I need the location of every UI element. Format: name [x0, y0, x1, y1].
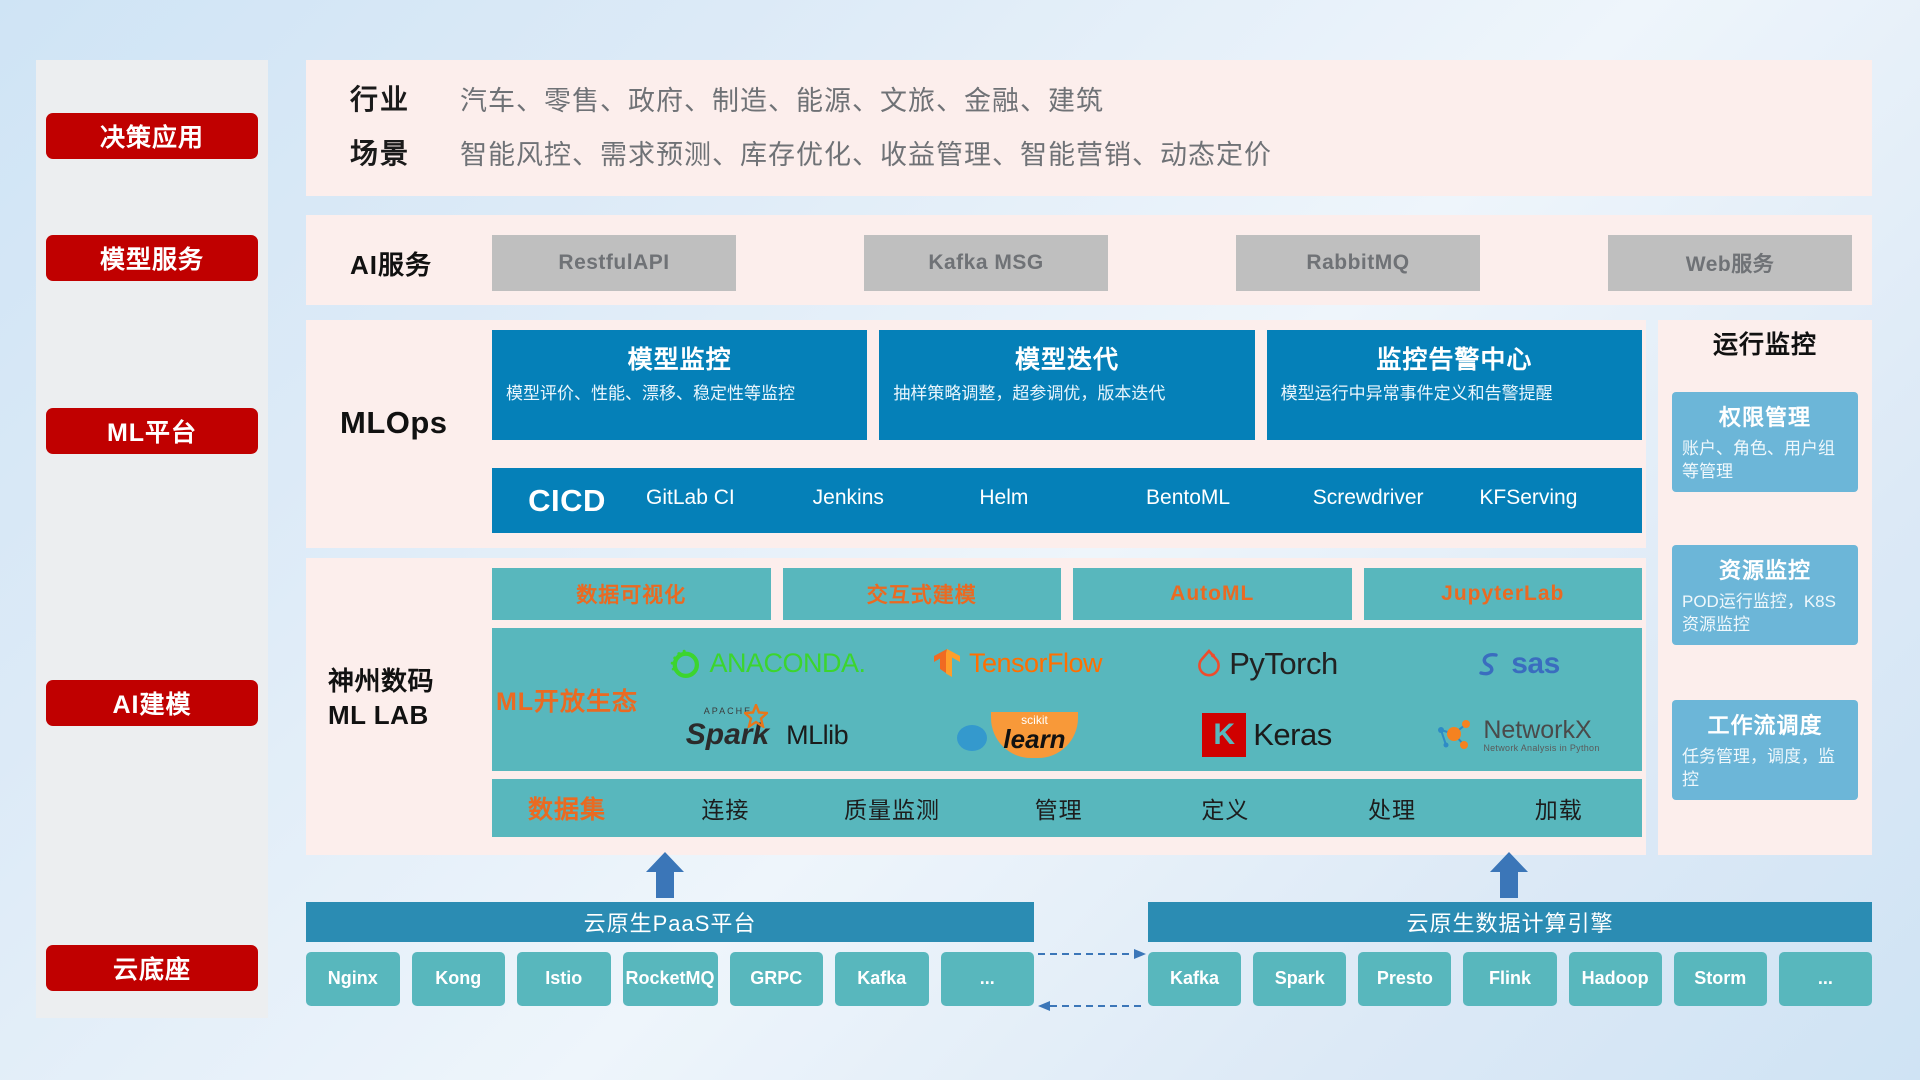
paas-component[interactable]: Kong [412, 952, 506, 1006]
pytorch-logo: PyTorch [1196, 646, 1337, 682]
stage-rail [36, 60, 268, 1018]
keras-k-icon: K [1202, 713, 1246, 757]
paas-component[interactable]: Nginx [306, 952, 400, 1006]
ai-service-chip[interactable]: Web服务 [1608, 235, 1852, 291]
ai-service-chip-list: RestfulAPI Kafka MSG RabbitMQ Web服务 [492, 235, 1852, 291]
mlops-card-list: 模型监控 模型评价、性能、漂移、稳定性等监控 模型迭代 抽样策略调整，超参调优，… [492, 330, 1642, 440]
monitoring-card-desc: 任务管理，调度，监控 [1682, 746, 1848, 792]
keras-logo-text: Keras [1253, 717, 1331, 753]
cicd-item[interactable]: BentoML [1142, 486, 1309, 509]
modeling-tool-chip[interactable]: 数据可视化 [492, 568, 771, 620]
engine-component[interactable]: Flink [1463, 952, 1556, 1006]
mlops-card-title: 模型监控 [506, 340, 853, 376]
sas-logo-text: sas [1511, 647, 1560, 681]
dashed-arrow-left-icon [1038, 1000, 1146, 1012]
keras-logo: K Keras [1202, 713, 1331, 757]
networkx-tagline: Network Analysis in Python [1483, 744, 1599, 753]
monitoring-card-desc: POD运行监控，K8S资源监控 [1682, 591, 1848, 637]
mllib-logo-text: MLlib [786, 720, 848, 751]
stage-label: 决策应用 [100, 118, 204, 154]
up-arrow-paas-icon [642, 852, 688, 898]
dashed-arrow-right-icon [1038, 948, 1146, 960]
ai-service-chip[interactable]: RabbitMQ [1236, 235, 1480, 291]
dataset-bar: 数据集 连接 质量监测 管理 定义 处理 加载 [492, 779, 1642, 837]
spark-mllib-logo: APACHE Spark MLlib [686, 718, 848, 752]
monitoring-card[interactable]: 工作流调度 任务管理，调度，监控 [1672, 700, 1858, 800]
mlops-card-title: 模型迭代 [893, 340, 1240, 376]
ai-service-chip[interactable]: RestfulAPI [492, 235, 736, 291]
anaconda-logo: ANACONDA. [668, 647, 865, 681]
tensorflow-logo-text: TensorFlow [969, 648, 1102, 679]
stage-chip-ai-modeling[interactable]: AI建模 [46, 680, 258, 726]
cicd-item[interactable]: Screwdriver [1309, 486, 1476, 509]
mlops-card-title: 监控告警中心 [1281, 340, 1628, 376]
dataset-item[interactable]: 定义 [1142, 791, 1309, 825]
sas-glyph [1474, 649, 1504, 679]
mlops-card-desc: 模型运行中异常事件定义和告警提醒 [1281, 383, 1628, 405]
networkx-glyph [1434, 717, 1476, 753]
ai-service-chip[interactable]: Kafka MSG [864, 235, 1108, 291]
stage-chip-cloud-base[interactable]: 云底座 [46, 945, 258, 991]
cicd-item[interactable]: KFServing [1475, 486, 1642, 509]
paas-component-list: Nginx Kong Istio RocketMQ GRPC Kafka ... [306, 952, 1034, 1006]
paas-component[interactable]: Istio [517, 952, 611, 1006]
engine-component[interactable]: Hadoop [1569, 952, 1662, 1006]
ml-lab-label-line2: ML LAB [328, 699, 488, 733]
paas-component[interactable]: GRPC [730, 952, 824, 1006]
industry-row: 行业 汽车、零售、政府、制造、能源、文旅、金融、建筑 [350, 78, 1104, 118]
stage-label: ML平台 [107, 413, 197, 449]
modeling-tool-list: 数据可视化 交互式建模 AutoML JupyterLab [492, 568, 1642, 620]
cicd-item[interactable]: Jenkins [809, 486, 976, 509]
pytorch-glyph [1196, 648, 1222, 680]
modeling-tool-chip[interactable]: JupyterLab [1364, 568, 1643, 620]
industry-label: 行业 [350, 78, 460, 118]
dataset-item[interactable]: 管理 [975, 791, 1142, 825]
stage-chip-model-service[interactable]: 模型服务 [46, 235, 258, 281]
engine-component-list: Kafka Spark Presto Flink Hadoop Storm ..… [1148, 952, 1872, 1006]
industry-value: 汽车、零售、政府、制造、能源、文旅、金融、建筑 [460, 79, 1104, 118]
engine-component[interactable]: Presto [1358, 952, 1451, 1006]
stage-chip-ml-platform[interactable]: ML平台 [46, 408, 258, 454]
networkx-logo: NetworkX Network Analysis in Python [1434, 717, 1599, 753]
dataset-title: 数据集 [492, 790, 642, 826]
ml-lab-label: 神州数码 ML LAB [328, 665, 488, 733]
cicd-title: CICD [492, 483, 642, 519]
dataset-item[interactable]: 连接 [642, 791, 809, 825]
engine-component-more[interactable]: ... [1779, 952, 1872, 1006]
anaconda-glyph [668, 647, 702, 681]
dataset-item[interactable]: 处理 [1309, 791, 1476, 825]
mlops-card[interactable]: 模型迭代 抽样策略调整，超参调优，版本迭代 [879, 330, 1254, 440]
engine-component[interactable]: Storm [1674, 952, 1767, 1006]
ml-ecosystem-box: ML开放生态 ANACONDA. TensorFlow [492, 628, 1642, 771]
paas-title: 云原生PaaS平台 [584, 906, 757, 938]
stage-label: AI建模 [112, 685, 191, 721]
cicd-item[interactable]: GitLab CI [642, 486, 809, 509]
mlops-label: MLOps [340, 405, 480, 441]
paas-component[interactable]: RocketMQ [623, 952, 718, 1006]
scenario-row: 场景 智能风控、需求预测、库存优化、收益管理、智能营销、动态定价 [350, 132, 1272, 172]
architecture-diagram: 决策应用 模型服务 ML平台 AI建模 云底座 行业 汽车、零售、政府、制造、能… [0, 0, 1920, 1080]
ml-lab-label-line1: 神州数码 [328, 665, 488, 699]
monitoring-card[interactable]: 资源监控 POD运行监控，K8S资源监控 [1672, 545, 1858, 645]
scenario-label: 场景 [350, 132, 460, 172]
monitoring-title: 运行监控 [1658, 325, 1872, 361]
modeling-tool-chip[interactable]: 交互式建模 [783, 568, 1062, 620]
cicd-item[interactable]: Helm [975, 486, 1142, 509]
engine-component[interactable]: Spark [1253, 952, 1346, 1006]
paas-bar: 云原生PaaS平台 [306, 902, 1034, 942]
stage-label: 模型服务 [100, 240, 204, 276]
sas-logo: sas [1474, 647, 1560, 681]
dataset-item[interactable]: 加载 [1475, 791, 1642, 825]
up-arrow-engine-icon [1486, 852, 1532, 898]
monitoring-card-desc: 账户、角色、用户组等管理 [1682, 438, 1848, 484]
mlops-card-desc: 模型评价、性能、漂移、稳定性等监控 [506, 383, 853, 405]
anaconda-logo-text: ANACONDA. [709, 648, 865, 679]
dataset-item[interactable]: 质量监测 [809, 791, 976, 825]
engine-component[interactable]: Kafka [1148, 952, 1241, 1006]
engine-title: 云原生数据计算引擎 [1406, 906, 1613, 938]
monitoring-card-title: 工作流调度 [1682, 708, 1848, 740]
spark-star-icon [744, 704, 768, 728]
paas-component[interactable]: Kafka [835, 952, 929, 1006]
engine-bar: 云原生数据计算引擎 [1148, 902, 1872, 942]
mlops-card[interactable]: 监控告警中心 模型运行中异常事件定义和告警提醒 [1267, 330, 1642, 440]
stage-chip-decision-app[interactable]: 决策应用 [46, 113, 258, 159]
paas-component-more[interactable]: ... [941, 952, 1035, 1006]
tensorflow-glyph [932, 647, 962, 681]
monitoring-card-title: 权限管理 [1682, 400, 1848, 432]
scenario-value: 智能风控、需求预测、库存优化、收益管理、智能营销、动态定价 [460, 133, 1272, 172]
scikit-learn-logo: scikit learn [956, 712, 1077, 758]
ml-ecosystem-logo-grid: ANACONDA. TensorFlow PyTorch [642, 628, 1642, 771]
tensorflow-logo: TensorFlow [932, 647, 1102, 681]
ml-ecosystem-label: ML开放生态 [492, 682, 642, 718]
mlops-card-desc: 抽样策略调整，超参调优，版本迭代 [893, 383, 1240, 405]
stage-label: 云底座 [113, 950, 191, 986]
networkx-logo-text: NetworkX [1483, 717, 1599, 743]
ai-service-label: AI服务 [350, 245, 470, 282]
cicd-bar: CICD GitLab CI Jenkins Helm BentoML Scre… [492, 468, 1642, 533]
monitoring-card-title: 资源监控 [1682, 553, 1848, 585]
monitoring-card[interactable]: 权限管理 账户、角色、用户组等管理 [1672, 392, 1858, 492]
modeling-tool-chip[interactable]: AutoML [1073, 568, 1352, 620]
mlops-card[interactable]: 模型监控 模型评价、性能、漂移、稳定性等监控 [492, 330, 867, 440]
pytorch-logo-text: PyTorch [1229, 646, 1337, 682]
learn-text: learn [1003, 726, 1065, 752]
